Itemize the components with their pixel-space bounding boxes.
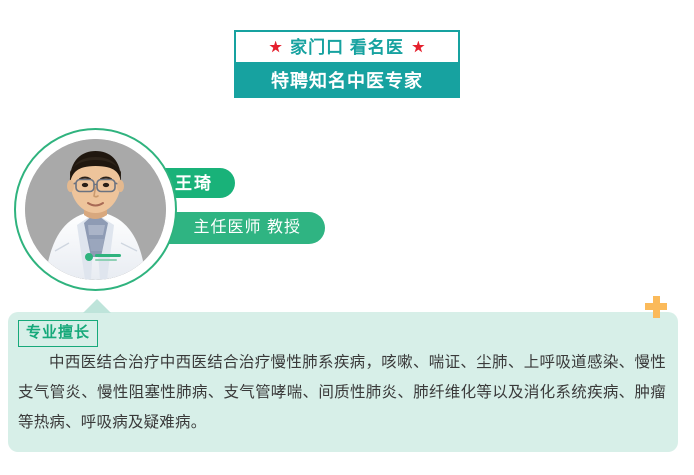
medical-plus-icon	[645, 296, 667, 318]
star-icon-left	[269, 41, 282, 54]
plus-icon-horizontal-bar	[645, 303, 667, 310]
panel-notch-triangle-icon	[83, 299, 111, 313]
header-banner-bottom: 特聘知名中医专家	[234, 64, 460, 98]
doctor-title: 主任医师 教授	[194, 220, 301, 236]
specialty-description: 中西医结合治疗中西医结合治疗慢性肺系疾病，咳嗽、喘证、尘肺、上呼吸道感染、慢性支…	[18, 348, 666, 438]
specialty-label-box: 专业擅长	[18, 320, 98, 347]
header-banner: 家门口 看名医 特聘知名中医专家	[234, 30, 460, 98]
header-banner-bottom-label: 特聘知名中医专家	[271, 72, 423, 90]
avatar	[14, 128, 177, 291]
doctor-name: 王琦	[175, 175, 213, 192]
doctor-profile-card: 家门口 看名医 特聘知名中医专家 王琦 主任医师 教授	[0, 0, 694, 475]
star-icon-right	[412, 41, 425, 54]
header-banner-top-label: 家门口 看名医	[290, 39, 404, 56]
doctor-portrait-image	[25, 139, 166, 280]
header-banner-top: 家门口 看名医	[234, 30, 460, 64]
doctor-portrait-svg	[25, 139, 166, 280]
specialty-label: 专业擅长	[26, 324, 90, 341]
